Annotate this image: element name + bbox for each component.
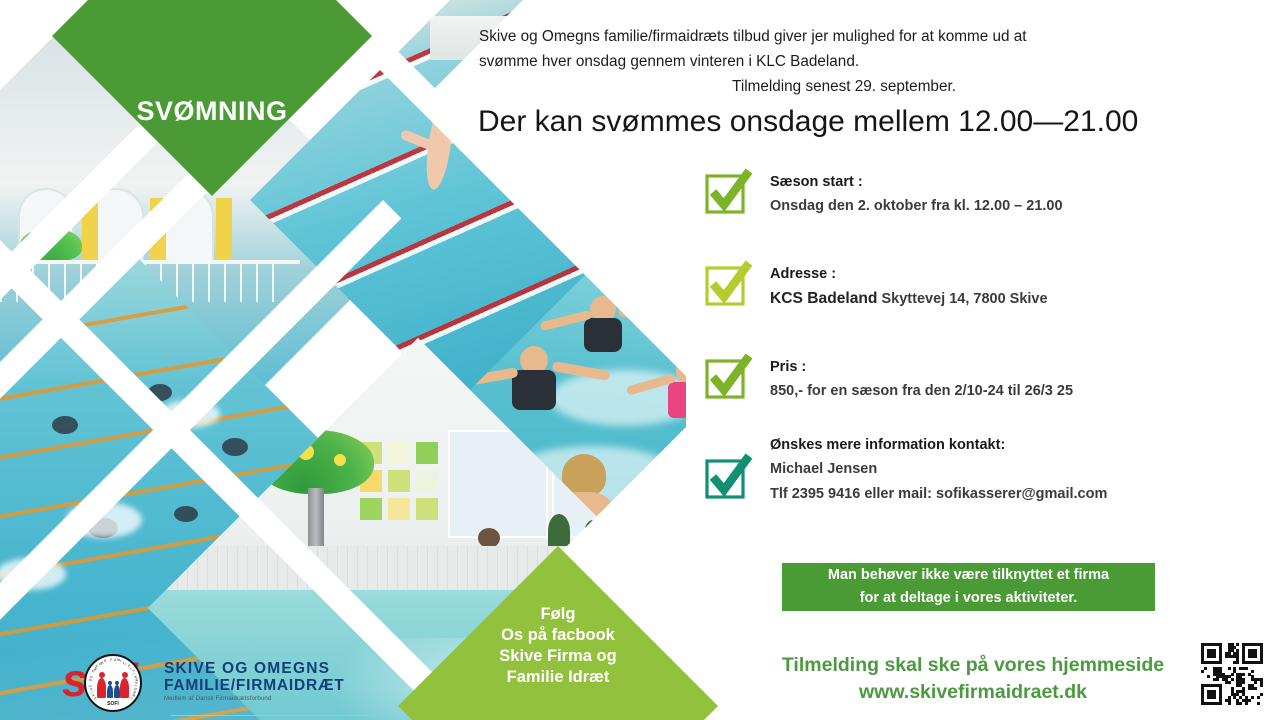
signup-website-link[interactable]: www.skivefirmaidraet.dk bbox=[758, 679, 1188, 706]
qr-module bbox=[1260, 684, 1263, 687]
checklist-item-title: Sæson start : bbox=[770, 170, 1063, 194]
checklist-item-body: Pris : 850,- for en sæson fra den 2/10-2… bbox=[770, 353, 1073, 404]
qr-module bbox=[1260, 693, 1263, 696]
qr-module bbox=[1236, 661, 1239, 664]
sofi-emblem-bottom-text: SOFI bbox=[86, 701, 140, 707]
qr-module bbox=[1236, 643, 1239, 646]
address-venue: KCS Badeland bbox=[770, 290, 877, 307]
contact-phone-email[interactable]: Tlf 2395 9416 eller mail: sofikasserer@g… bbox=[770, 482, 1107, 507]
sofi-name-line1: SKIVE OG OMEGNS bbox=[164, 660, 345, 677]
intro-line-2: svømme hver onsdag gennem vinteren i KLC… bbox=[479, 49, 1209, 74]
checklist-item-price: Pris : 850,- for en sæson fra den 2/10-2… bbox=[704, 353, 1244, 404]
family-figure-child-left-head bbox=[108, 681, 112, 685]
qr-module bbox=[1251, 696, 1254, 699]
family-figure-adult-left-head bbox=[99, 672, 105, 678]
sofi-name-line2: FAMILIE/FIRMAIDRÆT bbox=[164, 677, 345, 694]
check-box-icon bbox=[704, 168, 752, 216]
sofi-logo-text: SKIVE OG OMEGNS FAMILIE/FIRMAIDRÆT Medle… bbox=[164, 660, 345, 702]
qr-module bbox=[1257, 696, 1260, 699]
checklist-item-body: Sæson start : Onsdag den 2. oktober fra … bbox=[770, 168, 1063, 219]
qr-module bbox=[1254, 681, 1257, 684]
checklist-item-title: Adresse : bbox=[770, 262, 1048, 286]
intro-line-1: Skive og Omegns familie/firmaidræts tilb… bbox=[479, 24, 1209, 49]
checklist-item-contact: Ønskes mere information kontakt: Michael… bbox=[704, 431, 1244, 507]
checklist-item-line1: 850,- for en sæson fra den 2/10-24 til 2… bbox=[770, 379, 1073, 404]
qr-code[interactable] bbox=[1201, 643, 1263, 705]
checklist-item-line1: Onsdag den 2. oktober fra kl. 12.00 – 21… bbox=[770, 194, 1063, 219]
membership-note-line1: Man behøver ikke være tilknyttet et firm… bbox=[828, 564, 1109, 587]
checklist-item-title: Ønskes mere information kontakt: bbox=[770, 433, 1107, 457]
check-box-icon bbox=[704, 260, 752, 308]
contact-name: Michael Jensen bbox=[770, 457, 1107, 482]
swimming-badge-label: SVØMNING bbox=[136, 96, 287, 127]
follow-badge-line: Følg bbox=[499, 604, 616, 625]
sofi-logo-mark: sofi SKIVE OG OMEGNS FAMILIE/FIRMAIDRÆT … bbox=[62, 650, 158, 712]
signup-line1: Tilmelding skal ske på vores hjemmeside bbox=[758, 652, 1188, 679]
qr-module bbox=[1228, 702, 1231, 705]
follow-badge-label: FølgOs på facbookSkive Firma ogFamilie I… bbox=[499, 604, 616, 688]
sofi-emblem: SKIVE OG OMEGNS FAMILIE/FIRMAIDRÆT SOFI bbox=[84, 654, 142, 712]
family-figure-adult-right bbox=[120, 678, 129, 698]
qr-module bbox=[1219, 661, 1222, 664]
checklist-item-address: Adresse : KCS Badeland Skyttevej 14, 780… bbox=[704, 260, 1244, 312]
qr-module bbox=[1248, 699, 1251, 702]
qr-module bbox=[1245, 667, 1248, 670]
membership-note-box: Man behøver ikke være tilknyttet et firm… bbox=[782, 563, 1155, 611]
family-figure-child-left bbox=[107, 685, 113, 698]
qr-module bbox=[1257, 702, 1260, 705]
qr-module bbox=[1228, 667, 1231, 670]
follow-badge-line: Os på facbook bbox=[499, 625, 616, 646]
qr-module bbox=[1201, 670, 1204, 673]
qr-module bbox=[1207, 675, 1210, 678]
qr-module bbox=[1251, 670, 1254, 673]
qr-module bbox=[1228, 681, 1231, 684]
qr-module bbox=[1242, 681, 1245, 684]
qr-module bbox=[1219, 702, 1222, 705]
sofi-logo: sofi SKIVE OG OMEGNS FAMILIE/FIRMAIDRÆT … bbox=[62, 648, 352, 714]
family-figure-child-right bbox=[114, 685, 120, 698]
signup-callout: Tilmelding skal ske på vores hjemmeside … bbox=[758, 652, 1188, 706]
checklist-item-season-start: Sæson start : Onsdag den 2. oktober fra … bbox=[704, 168, 1244, 219]
qr-module bbox=[1213, 696, 1216, 699]
checklist-item-line1: KCS Badeland Skyttevej 14, 7800 Skive bbox=[770, 286, 1048, 312]
intro-paragraph: Skive og Omegns familie/firmaidræts tilb… bbox=[479, 24, 1209, 99]
follow-badge-line: Skive Firma og bbox=[499, 646, 616, 667]
qr-module bbox=[1239, 702, 1242, 705]
checklist-item-body: Adresse : KCS Badeland Skyttevej 14, 780… bbox=[770, 260, 1048, 312]
qr-module bbox=[1231, 673, 1234, 676]
qr-module bbox=[1204, 667, 1207, 670]
qr-module bbox=[1213, 655, 1216, 658]
qr-module bbox=[1242, 673, 1245, 676]
family-figure-child-right-head bbox=[115, 681, 119, 685]
family-figure-adult-left bbox=[97, 678, 106, 698]
checklist-item-body: Ønskes mere information kontakt: Michael… bbox=[770, 431, 1107, 507]
qr-module bbox=[1231, 678, 1234, 681]
qr-module bbox=[1216, 678, 1219, 681]
follow-badge-line: Familie Idræt bbox=[499, 667, 616, 688]
check-box-icon bbox=[704, 453, 752, 501]
checklist-item-title: Pris : bbox=[770, 355, 1073, 379]
poster-root: SVØMNING FølgOs på facbookSkive Firma og… bbox=[0, 0, 1280, 720]
checklist: Sæson start : Onsdag den 2. oktober fra … bbox=[704, 168, 1244, 507]
headline: Der kan svømmes onsdage mellem 12.00—21.… bbox=[478, 103, 1230, 141]
membership-note-line2: for at deltage i vores aktiviteter. bbox=[860, 587, 1078, 610]
qr-module bbox=[1245, 702, 1248, 705]
address-street: Skyttevej 14, 7800 Skive bbox=[881, 291, 1047, 307]
intro-line-3: Tilmelding senest 29. september. bbox=[479, 74, 1209, 99]
qr-module bbox=[1254, 655, 1257, 658]
family-figure-adult-right-head bbox=[122, 672, 128, 678]
qr-module bbox=[1260, 661, 1263, 664]
sofi-logo-underline bbox=[170, 715, 402, 717]
qr-module bbox=[1254, 687, 1257, 690]
sofi-member-line: Medlem af Dansk Firmaidrætsforbund bbox=[164, 696, 345, 702]
check-box-icon bbox=[704, 353, 752, 401]
